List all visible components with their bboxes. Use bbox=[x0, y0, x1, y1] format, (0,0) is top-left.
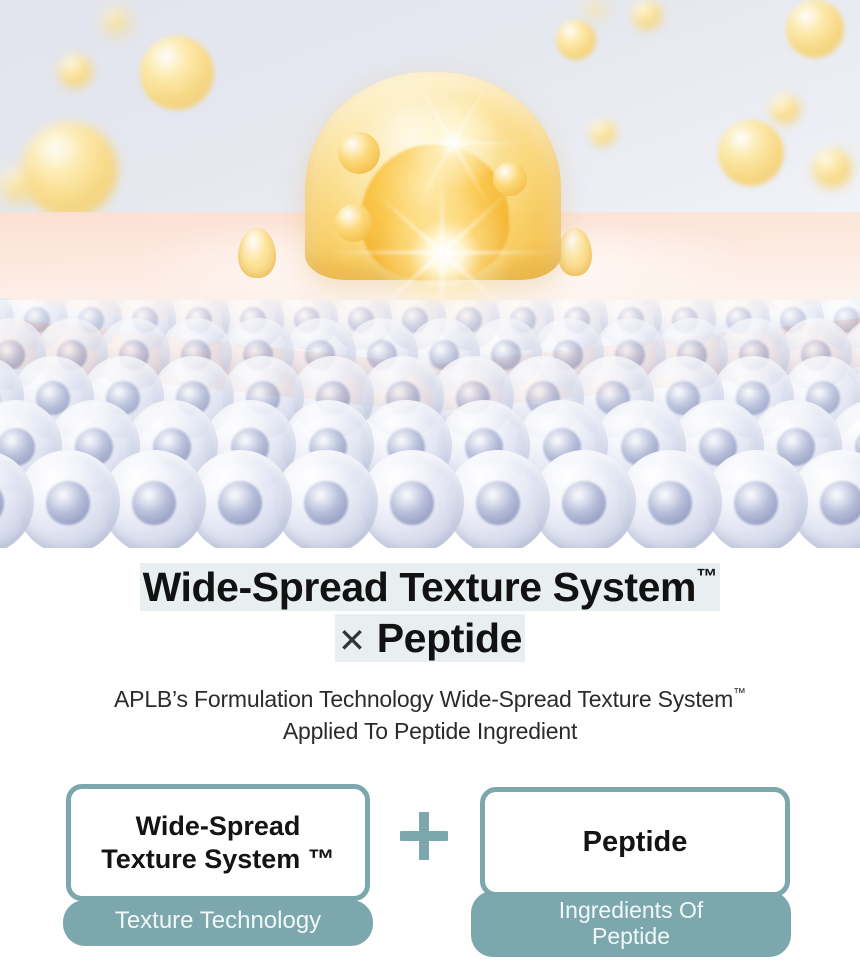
trademark-symbol: ™ bbox=[696, 565, 717, 589]
headline-line-2-text: Peptide bbox=[377, 615, 522, 661]
subtitle-line-1-text: APLB’s Formulation Technology Wide-Sprea… bbox=[114, 686, 733, 712]
headline-line-1: Wide-Spread Texture System™ bbox=[0, 562, 860, 613]
oil-bubble-icon bbox=[140, 36, 214, 110]
headline-line-1-text: Wide-Spread Texture System bbox=[143, 564, 697, 610]
hero-image bbox=[0, 0, 860, 548]
card-right-body: Peptide bbox=[480, 787, 790, 897]
small-oil-droplet-icon bbox=[558, 228, 592, 276]
oil-bubble-icon bbox=[590, 120, 616, 146]
infographic-page: Wide-Spread Texture System™ ✕ Peptide AP… bbox=[0, 0, 860, 964]
card-left-footer: Texture Technology bbox=[63, 900, 373, 946]
page-title: Wide-Spread Texture System™ ✕ Peptide bbox=[0, 548, 860, 665]
card-left-title: Wide-Spread Texture System ™ bbox=[101, 810, 335, 875]
oil-bubble-icon bbox=[586, 0, 604, 18]
oil-bubble-icon bbox=[718, 120, 784, 186]
small-oil-droplet-icon bbox=[238, 228, 276, 278]
headline-highlight-1: Wide-Spread Texture System™ bbox=[140, 563, 721, 611]
card-left-title-line-2: Texture System ™ bbox=[101, 844, 335, 874]
card-right-footer: Ingredients Of Peptide bbox=[471, 891, 791, 957]
droplet-bubble-icon bbox=[338, 132, 380, 174]
subtitle-line-1: APLB’s Formulation Technology Wide-Sprea… bbox=[114, 686, 746, 712]
oil-bubble-icon bbox=[556, 20, 596, 60]
card-peptide[interactable]: Ingredients Of Peptide Peptide bbox=[468, 787, 798, 957]
oil-bubble-icon bbox=[0, 168, 34, 202]
card-wide-spread-texture-system[interactable]: Texture Technology Wide-Spread Texture S… bbox=[58, 784, 378, 946]
card-right-footer-line-2: Peptide bbox=[592, 923, 670, 949]
card-right-title: Peptide bbox=[583, 826, 688, 859]
ingredient-cards: Texture Technology Wide-Spread Texture S… bbox=[0, 784, 860, 964]
content-section: Wide-Spread Texture System™ ✕ Peptide AP… bbox=[0, 548, 860, 964]
oil-bubble-icon bbox=[632, 0, 662, 30]
headline-highlight-2: ✕ Peptide bbox=[335, 614, 525, 662]
cross-symbol: ✕ bbox=[338, 623, 366, 660]
headline-line-2: ✕ Peptide bbox=[0, 613, 860, 664]
plus-icon bbox=[400, 812, 448, 860]
card-left-footer-label: Texture Technology bbox=[115, 907, 321, 934]
oil-bubble-icon bbox=[812, 148, 852, 188]
oil-bubble-icon bbox=[22, 122, 118, 218]
card-right-footer-line-1: Ingredients Of bbox=[559, 897, 703, 923]
translucent-sphere-bed bbox=[0, 300, 860, 548]
oil-bubble-icon bbox=[786, 0, 844, 58]
page-subtitle: APLB’s Formulation Technology Wide-Sprea… bbox=[0, 683, 860, 748]
oil-bubble-icon bbox=[58, 54, 92, 88]
droplet-bubble-icon bbox=[335, 204, 373, 242]
trademark-symbol: ™ bbox=[733, 684, 746, 699]
oil-bubble-icon bbox=[103, 8, 129, 34]
subtitle-line-2: Applied To Peptide Ingredient bbox=[283, 718, 577, 744]
card-left-body: Wide-Spread Texture System ™ bbox=[66, 784, 370, 901]
card-left-title-line-1: Wide-Spread bbox=[136, 811, 301, 841]
oil-bubble-icon bbox=[770, 94, 800, 124]
